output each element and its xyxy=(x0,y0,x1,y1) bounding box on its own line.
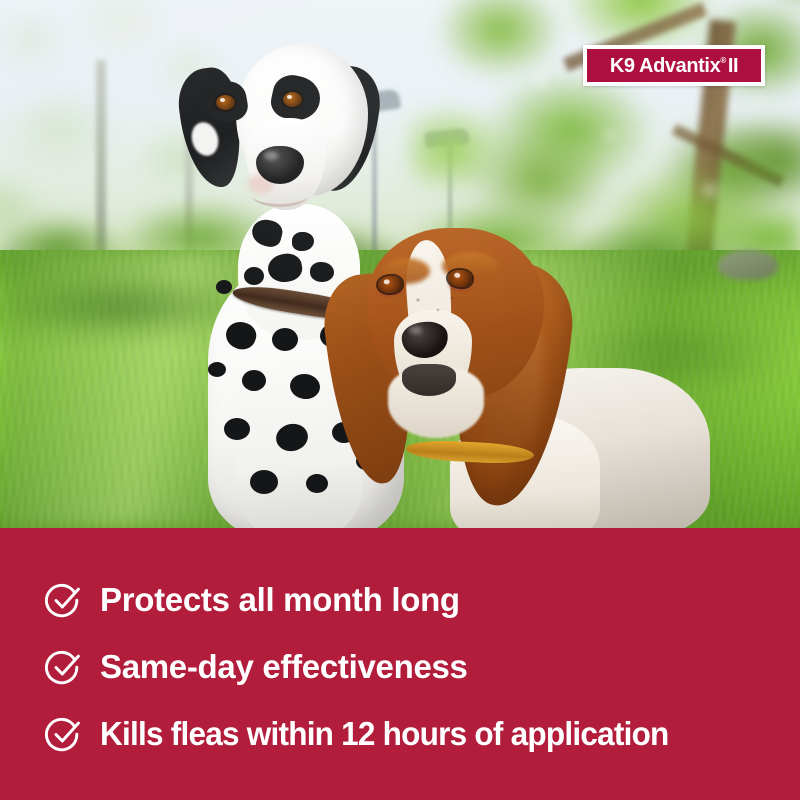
dalmatian-spot xyxy=(250,470,278,494)
brand-version: II xyxy=(728,56,738,76)
brand-logo-inner: K9 Advantix®II xyxy=(587,49,761,82)
check-circle-icon xyxy=(45,715,83,753)
claims-banner: Protects all month long Same-day effecti… xyxy=(0,528,800,800)
dalmatian-spot xyxy=(244,267,264,285)
brand-name: K9 Advantix xyxy=(610,56,720,76)
product-image-canvas: K9 Advantix®II Protects all month long xyxy=(0,0,800,800)
check-circle-icon xyxy=(45,648,83,686)
brand-logo-text: K9 Advantix®II xyxy=(610,56,738,76)
claim-text: Protects all month long xyxy=(100,583,460,618)
check-circle-icon xyxy=(45,581,83,619)
dalmatian-eye-left xyxy=(216,95,235,110)
background-rock xyxy=(718,250,778,280)
dalmatian-eye-right xyxy=(283,92,302,107)
claim-item: Same-day effectiveness xyxy=(45,648,785,686)
dalmatian-spot xyxy=(242,370,266,391)
basset-hound-dog xyxy=(330,218,700,528)
basset-lip xyxy=(402,364,456,396)
dalmatian-spot xyxy=(224,418,250,440)
claim-item: Kills fleas within 12 hours of applicati… xyxy=(45,715,785,753)
claims-list: Protects all month long Same-day effecti… xyxy=(45,528,785,800)
dalmatian-spot xyxy=(216,280,232,294)
basset-nose-highlight xyxy=(409,326,422,334)
dalmatian-spot xyxy=(272,328,298,351)
claim-text: Same-day effectiveness xyxy=(100,650,468,685)
claim-item: Protects all month long xyxy=(45,581,785,619)
dalmatian-mouth xyxy=(252,184,308,207)
brand-logo-badge: K9 Advantix®II xyxy=(583,45,765,86)
dalmatian-spot xyxy=(208,362,226,377)
registered-trademark-icon: ® xyxy=(720,57,726,65)
claim-text: Kills fleas within 12 hours of applicati… xyxy=(100,717,669,752)
hero-photo: K9 Advantix®II xyxy=(0,0,800,528)
dalmatian-nose-highlight xyxy=(264,151,278,160)
dalmatian-spot xyxy=(306,474,328,493)
